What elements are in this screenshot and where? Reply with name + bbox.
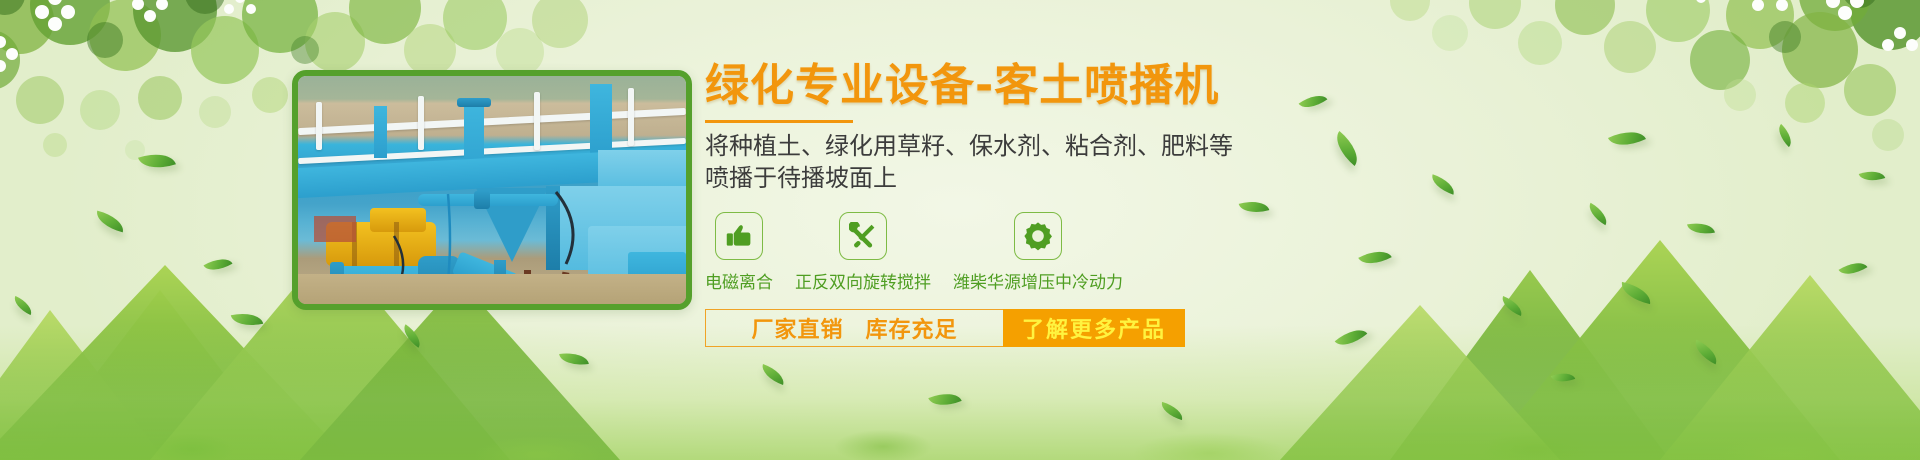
feature-label: 潍柴华源增压中冷动力: [953, 268, 1123, 293]
banner-content: 绿化专业设备-客土喷播机 将种植土、绿化用草籽、保水剂、粘合剂、肥料等 喷播于待…: [705, 64, 1755, 347]
leaf-icon: [94, 211, 127, 233]
leaf-icon: [1859, 167, 1886, 186]
cta-tag-stock-available: 库存充足: [866, 312, 958, 344]
page-title: 绿化专业设备-客土喷播机: [705, 64, 1755, 108]
product-photo[interactable]: [292, 70, 692, 310]
title-divider: [705, 120, 853, 123]
gear-icon: [1014, 212, 1062, 260]
feature-item-electromagnetic-clutch[interactable]: 电磁离合: [705, 212, 773, 293]
feature-label: 电磁离合: [705, 268, 773, 293]
feature-item-bidirectional-mixing[interactable]: 正反双向旋转搅拌: [795, 212, 931, 293]
subtitle-line-1: 将种植土、绿化用草籽、保水剂、粘合剂、肥料等: [705, 131, 1755, 163]
leaf-icon: [759, 364, 788, 385]
promo-banner: 绿化专业设备-客土喷播机 将种植土、绿化用草籽、保水剂、粘合剂、肥料等 喷播于待…: [0, 0, 1920, 460]
leaf-icon: [1839, 256, 1868, 281]
leaf-icon: [559, 350, 589, 368]
tools-icon: [839, 212, 887, 260]
feature-list: 电磁离合 正反双向旋转搅拌: [705, 212, 1755, 293]
cta-bar: 厂家直销 库存充足 了解更多产品: [705, 309, 1185, 347]
feature-item-weichai-power[interactable]: 潍柴华源增压中冷动力: [953, 212, 1123, 293]
leaf-icon: [1159, 402, 1185, 420]
feature-label: 正反双向旋转搅拌: [795, 268, 931, 293]
cta-tags: 厂家直销 库存充足: [705, 309, 1003, 347]
leaf-icon: [1773, 124, 1796, 147]
learn-more-button[interactable]: 了解更多产品: [1003, 309, 1185, 347]
leaf-icon: [399, 324, 426, 348]
product-photo-image: [298, 76, 686, 304]
leaf-icon: [138, 147, 176, 175]
thumbs-up-icon: [715, 212, 763, 260]
leaf-icon: [11, 296, 36, 315]
cta-tag-factory-direct: 厂家直销: [751, 312, 843, 344]
leaf-icon: [231, 309, 263, 330]
subtitle-line-2: 喷播于待播坡面上: [705, 163, 1755, 195]
leaf-icon: [1551, 369, 1575, 387]
leaf-icon: [928, 387, 961, 412]
leaf-icon: [203, 252, 232, 276]
